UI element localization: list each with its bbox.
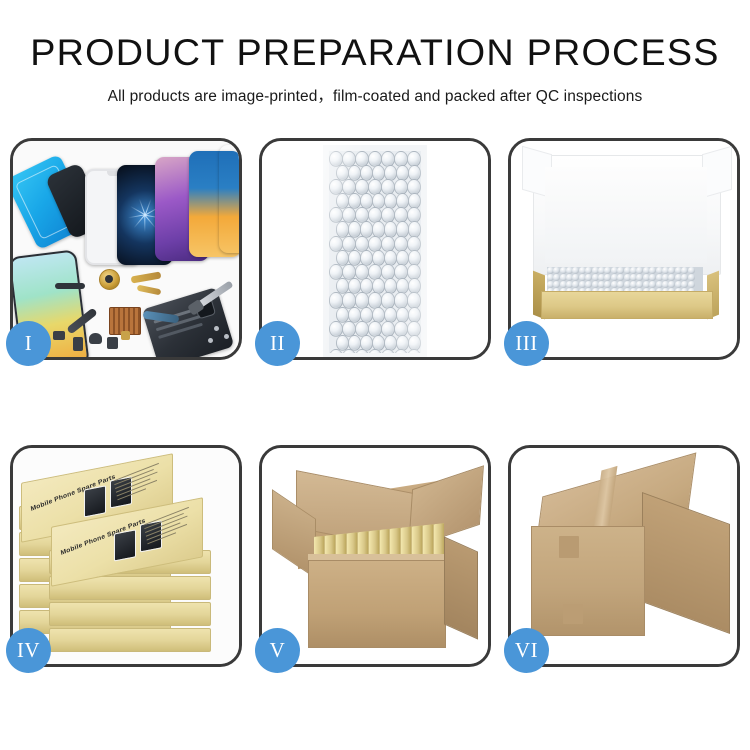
earpiece-mesh-part [55, 283, 85, 289]
panel-step-1: I [10, 138, 242, 360]
screw-part-2 [224, 334, 229, 339]
carton-side-wall [444, 536, 478, 639]
process-grid: I II III [10, 138, 740, 667]
bubble-wrap-pouch [323, 145, 427, 357]
step-badge-4: IV [6, 628, 51, 673]
stacked-box-edge-r4 [49, 628, 211, 652]
stacked-box-edge-r3 [49, 602, 211, 626]
header: PRODUCT PREPARATION PROCESS All products… [0, 0, 750, 106]
phone-back-housing [142, 287, 235, 357]
sealed-carton-right-face [642, 492, 730, 634]
stacked-boxes-image: Mobile Phone Spare Parts Mobile Phone Sp… [13, 448, 239, 664]
box-phone-image-f1 [114, 529, 136, 561]
carton-handle-tab-upper [559, 536, 579, 558]
box-phone-image-r1 [84, 485, 106, 517]
plastic-sheen-overlay [323, 145, 427, 357]
step-badge-5: V [255, 628, 300, 673]
box-front-panel [541, 291, 713, 319]
panel-step-4: Mobile Phone Spare Parts Mobile Phone Sp… [10, 445, 242, 667]
box-back-wall [545, 167, 707, 263]
box-stack: Mobile Phone Spare Parts Mobile Phone Sp… [19, 462, 235, 658]
step-badge-6: VI [504, 628, 549, 673]
flex-cable-gold-2 [137, 285, 162, 296]
product-preparation-infographic: PRODUCT PREPARATION PROCESS All products… [0, 0, 750, 750]
buzzer-part [89, 333, 102, 344]
panel-step-2: II [259, 138, 491, 360]
camera-lens-part [53, 331, 65, 340]
page-title: PRODUCT PREPARATION PROCESS [0, 34, 750, 73]
panel-step-3: III [508, 138, 740, 360]
vibrator-part [107, 337, 118, 349]
box-bubble [688, 274, 695, 281]
box-bubble [688, 267, 695, 274]
bubble-wrap-image [262, 141, 488, 357]
speaker-coil-part [99, 269, 120, 290]
step-badge-3: III [504, 321, 549, 366]
box-bubble-row [547, 267, 703, 274]
box-spec-lines-rear [114, 463, 165, 509]
box-bubble-row [547, 274, 703, 281]
box-spec-lines-front [144, 507, 195, 553]
box-bubble-row [547, 281, 703, 288]
sealed-carton-image [511, 448, 737, 664]
carton-handle-tab-lower [563, 604, 583, 624]
sealed-carton-front-face [531, 526, 645, 636]
screw-part-3 [208, 338, 213, 343]
gold-connector-part [121, 331, 130, 340]
open-inner-box-image [511, 141, 737, 357]
sim-tray-part [73, 337, 83, 351]
panel-step-5: V [259, 445, 491, 667]
phone-teal-wallpaper [219, 145, 239, 253]
phone-parts-image [13, 141, 239, 357]
carton-front-wall [308, 560, 446, 648]
step-badge-2: II [255, 321, 300, 366]
box-bubble [688, 281, 695, 288]
box-bubble-contents [547, 267, 703, 293]
panel-step-6: VI [508, 445, 740, 667]
screw-part-1 [214, 326, 219, 331]
open-carton-image [262, 448, 488, 664]
step-badge-1: I [6, 321, 51, 366]
page-subtitle: All products are image-printed，film-coat… [0, 84, 750, 106]
flex-cable-gold-1 [131, 271, 162, 283]
